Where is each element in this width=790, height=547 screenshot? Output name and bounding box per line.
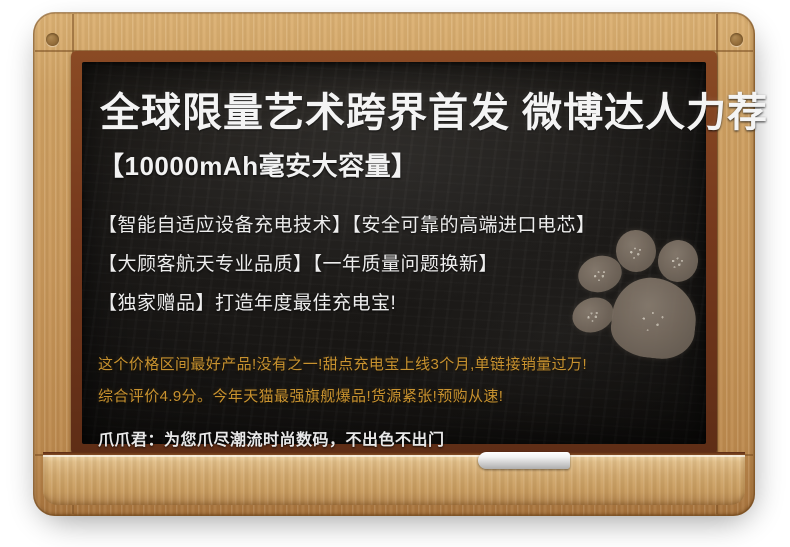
- promo-line: 这个价格区间最好产品!没有之一!甜点充电宝上线3个月,单链接销量过万!: [98, 353, 587, 374]
- chalk-tray: [43, 455, 745, 505]
- page-title: 全球限量艺术跨界首发 微博达人力荐: [100, 80, 768, 138]
- list-item: 【独家赠品】打造年度最佳充电宝!: [98, 288, 596, 315]
- paw-toe-pad: [655, 237, 702, 285]
- promo-line: 综合评价4.9分。今年天猫最强旗舰爆品!货源紧张!预购从速!: [98, 385, 587, 406]
- screw-icon: [46, 33, 59, 46]
- blackboard-promo-banner: 全球限量艺术跨界首发 微博达人力荐 【10000mAh毫安大容量】 【智能自适应…: [0, 0, 790, 547]
- list-item: 【智能自适应设备充电技术】【安全可靠的高端进口电芯】: [98, 210, 596, 237]
- list-item: 【大顾客航天专业品质】【一年质量问题换新】: [98, 249, 596, 276]
- paw-main-pad: [608, 274, 700, 362]
- board-content: 全球限量艺术跨界首发 微博达人力荐 【10000mAh毫安大容量】 【智能自适应…: [82, 62, 706, 444]
- feature-list: 【智能自适应设备充电技术】【安全可靠的高端进口电芯】 【大顾客航天专业品质】【一…: [98, 210, 596, 327]
- screw-icon: [730, 33, 743, 46]
- paw-print-icon: [572, 230, 702, 360]
- promo-block: 这个价格区间最好产品!没有之一!甜点充电宝上线3个月,单链接销量过万! 综合评价…: [98, 353, 587, 417]
- brand-signature: 爪爪君：为您爪尽潮流时尚数码，不出色不出门: [98, 426, 445, 450]
- capacity-subheadline: 【10000mAh毫安大容量】: [98, 146, 418, 183]
- chalk-stick-icon: [478, 452, 570, 469]
